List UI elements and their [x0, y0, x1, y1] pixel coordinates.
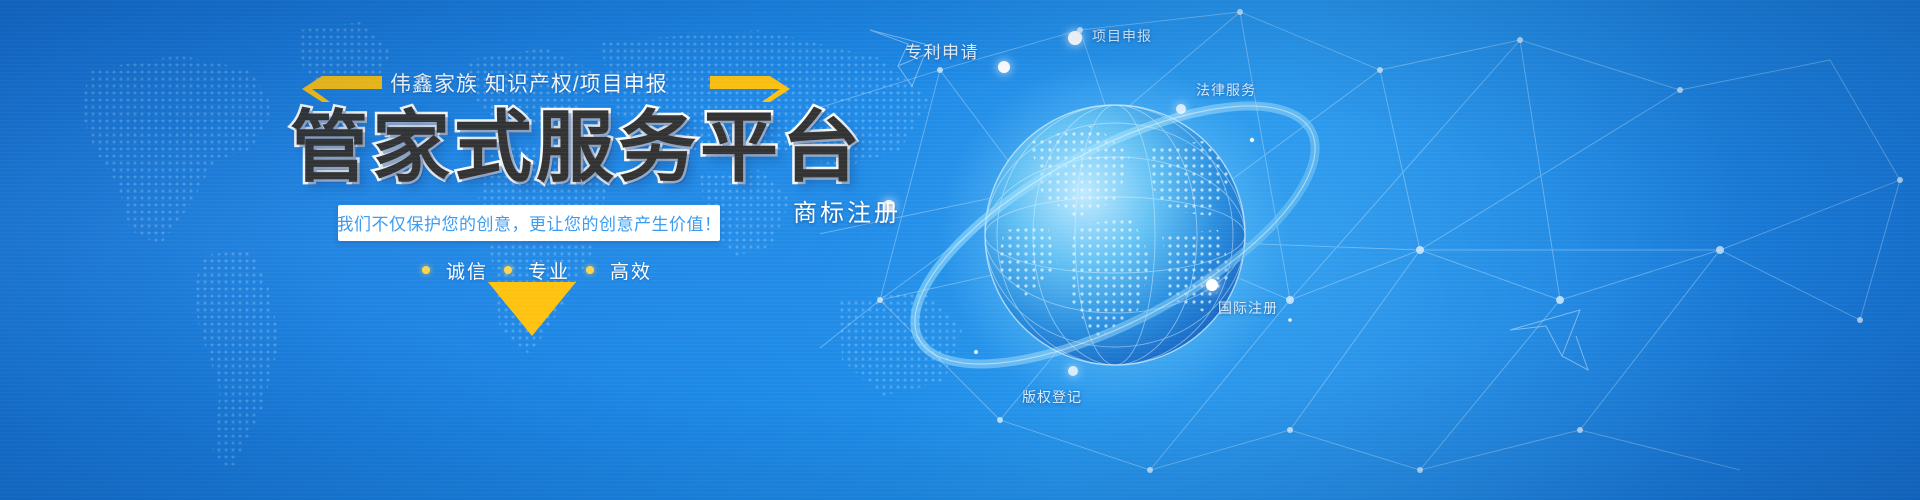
vignette-overlay [0, 0, 1920, 500]
globe-node-label-patent: 专利申请 [905, 38, 979, 63]
node-dot [1176, 104, 1186, 114]
node-dot [1068, 31, 1082, 45]
node-dot [998, 61, 1010, 73]
chevron-left-icon [300, 72, 384, 106]
eyebrow-row: 伟鑫家族 知识产权/项目申报 [290, 62, 790, 104]
bullet-dot-icon [422, 266, 430, 274]
chevron-down-icon [486, 280, 578, 338]
node-dot [1068, 366, 1078, 376]
globe-node-label-copyright: 版权登记 [1022, 387, 1082, 407]
globe-node-label-legal: 法律服务 [1196, 80, 1256, 100]
page-title: 管家式服务平台 [290, 106, 790, 189]
bullet-item-efficient: 高效 [610, 257, 652, 284]
globe-icon [880, 20, 1360, 490]
chevron-right-icon [708, 72, 792, 106]
network-constellation [820, 0, 1920, 500]
node-dot [1206, 279, 1218, 291]
globe-node-label-international: 国际注册 [1218, 298, 1278, 318]
bullet-item-integrity: 诚信 [446, 257, 488, 284]
bullet-dot-icon [586, 266, 594, 274]
tagline-box: 我们不仅保护您的创意，更让您的创意产生价值！ [338, 205, 720, 241]
hero-banner: 专利申请 项目申报 法律服务 商标注册 国际注册 版权登记 伟鑫家族 知识产权/… [0, 0, 1920, 500]
bullet-dot-icon [504, 266, 512, 274]
globe-node-label-project: 项目申报 [1092, 26, 1152, 46]
headline-block: 伟鑫家族 知识产权/项目申报 管家式服务平台 我们不仅保护您的创意，更让您的创意… [290, 62, 790, 284]
tagline-text: 我们不仅保护您的创意，更让您的创意产生价值！ [337, 210, 722, 235]
globe-node-label-trademark: 商标注册 [793, 193, 901, 228]
eyebrow-text: 伟鑫家族 知识产权/项目申报 [390, 68, 668, 98]
scanline-texture [0, 0, 1920, 500]
